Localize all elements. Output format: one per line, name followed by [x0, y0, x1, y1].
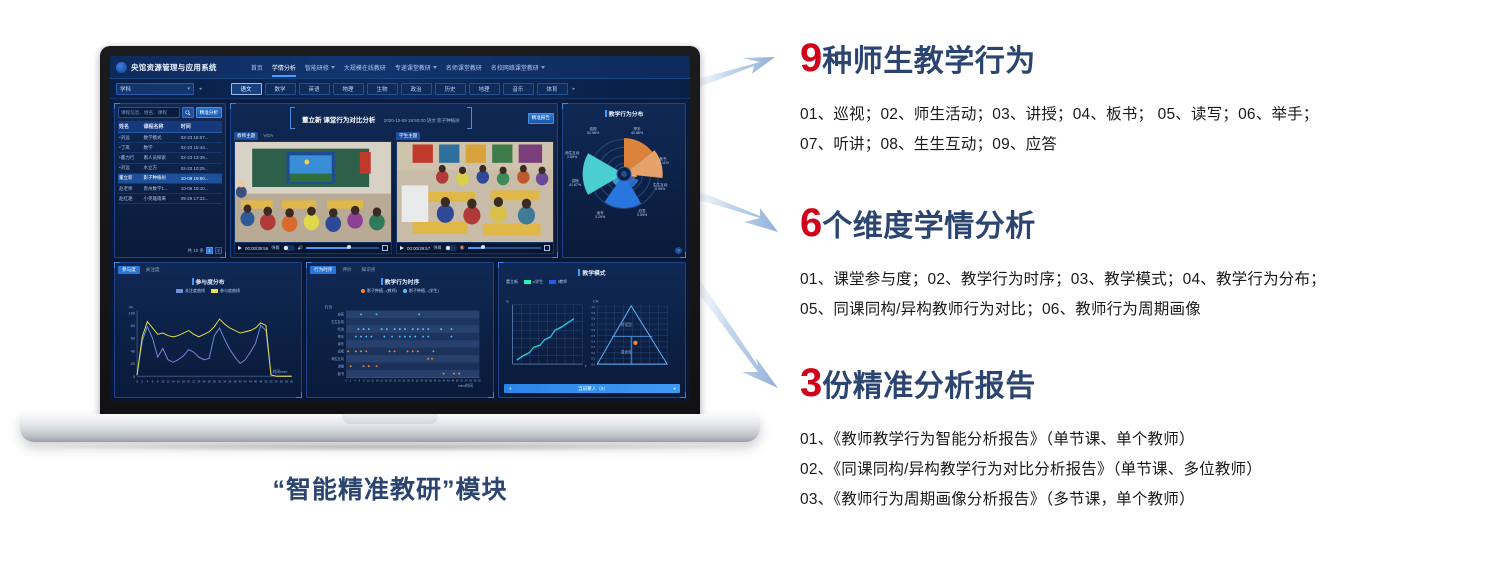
- volume-slider-left[interactable]: [306, 247, 379, 249]
- course-list-panel: 课程信息、姓名、课程 精准分析 姓名 课程名称: [114, 103, 226, 258]
- participation-ylabel: /%: [129, 305, 134, 309]
- svg-text:生生互动: 生生互动: [331, 319, 344, 324]
- teaching-mode-legend: 董立新 s学生 t教师: [502, 279, 682, 285]
- svg-text:8: 8: [157, 380, 159, 384]
- cell-name: 董立新: [118, 173, 142, 183]
- svg-text:20: 20: [131, 362, 135, 366]
- plus-icon[interactable]: ＋: [508, 386, 513, 392]
- svg-text:30: 30: [411, 381, 414, 383]
- mode-right-ylabel: CH: [593, 300, 599, 304]
- pie-label-shengsheng: 生生互动0.99%: [653, 183, 667, 192]
- feature-block-2: 6 个维度学情分析 01、课堂参与度；02、教学行为时序；03、教学模式；04、…: [800, 203, 1326, 325]
- app-navbar: 央馆资源管理与应用系统 首页 学情分析 智能研修 大规模在线教研 专递课堂教研 …: [110, 56, 690, 79]
- svg-text:60: 60: [131, 337, 135, 341]
- video-frame-student[interactable]: [396, 141, 554, 243]
- video-players: 教师主题 VGA: [234, 132, 554, 254]
- svg-text:4: 4: [354, 381, 356, 383]
- danmaku-label-right: 弹幕: [433, 245, 441, 251]
- cell-time: 02-23 15:43...: [180, 143, 222, 153]
- svg-text:12: 12: [166, 380, 170, 384]
- nav-item-famous-school-online[interactable]: 名校网络课堂教研: [491, 63, 545, 72]
- svg-text:36: 36: [228, 380, 232, 384]
- svg-text:举手: 举手: [338, 334, 344, 339]
- nav-item-master-class[interactable]: 名师课堂教研: [446, 63, 482, 72]
- block-2-line-2: 05、同课同构/异构教师行为对比；06、教师行为周期画像: [800, 295, 1326, 325]
- subject-tab-english[interactable]: 英语: [299, 83, 330, 95]
- subject-tab-chinese[interactable]: 语文: [231, 83, 262, 95]
- cell-name: •刘远: [118, 133, 142, 143]
- participation-legend: 关注度曲线 参与度曲线: [118, 288, 298, 294]
- svg-text:46: 46: [447, 381, 450, 383]
- svg-text:40: 40: [131, 349, 135, 353]
- svg-text:42: 42: [438, 381, 441, 383]
- video-tabs-left: 教师主题 VGA: [234, 132, 392, 140]
- timeline-legend: 影子种植...(教师) 影子种植...(学生): [310, 288, 490, 294]
- svg-text:10: 10: [367, 381, 370, 383]
- svg-text:2: 2: [141, 380, 143, 384]
- volume-mute-icon[interactable]: 🔇: [460, 245, 465, 251]
- behavior-distribution-panel: 教学行为分布: [562, 103, 686, 258]
- table-row[interactable]: •董力行南人员探索02-23 13:39...: [118, 153, 222, 163]
- cell-time: 02-23 13:39...: [180, 153, 222, 163]
- nav-items: 首页 学情分析 智能研修 大规模在线教研 专递课堂教研 名师课堂教研 名校网络课…: [251, 63, 545, 72]
- subject-tab-politics[interactable]: 政治: [401, 83, 432, 95]
- danmaku-label-left: 弹幕: [271, 245, 279, 251]
- legend-student-s: s学生: [524, 279, 543, 285]
- svg-text:6: 6: [359, 381, 361, 383]
- pie-slices: [571, 121, 677, 227]
- content-row-top: 课程信息、姓名、课程 精准分析 姓名 课程名称: [114, 103, 686, 258]
- block-3-line-1: 01、《教师教学行为智能分析报告》（单节课、单个教师）: [800, 425, 1262, 455]
- video-tabs-right: 学生主题: [396, 132, 554, 140]
- scroll-left-icon[interactable]: ◂: [199, 86, 202, 92]
- cell-time: 10-09 19:10...: [180, 183, 222, 193]
- page-2-button[interactable]: 2: [215, 247, 222, 254]
- precise-analysis-button[interactable]: 精准分析: [196, 107, 222, 118]
- subject-tab-math[interactable]: 数学: [265, 83, 296, 95]
- pie-label-shishengHD: 师生互动2.89%: [565, 151, 579, 160]
- cell-name: 赵老师: [118, 183, 142, 193]
- pie-label-jiangshou: 讲授41.67%: [569, 179, 581, 188]
- timeline-tabs: 行为时序 评价 知识点: [310, 266, 490, 274]
- participation-xlabel: 时间/min: [273, 369, 288, 374]
- video-controls-right: 00:00/39:57 弹幕 🔇: [396, 243, 554, 254]
- svg-text:58: 58: [285, 380, 289, 384]
- svg-text:24: 24: [398, 381, 401, 383]
- participation-panel: 参与度 关注度 参与度分布 关注度曲线 参与度曲线 /%: [114, 262, 302, 398]
- feature-block-1: 9 种师生教学行为 01、巡视；02、师生活动；03、讲授；04、板书； 05、…: [800, 38, 1319, 160]
- cell-course: 小英雄雨来: [142, 194, 179, 204]
- teaching-mode-title: 教学模式: [578, 268, 605, 277]
- svg-text:10: 10: [161, 380, 165, 384]
- chevron-down-icon: [433, 66, 437, 69]
- current-point-label: 当前聚人（0）: [516, 386, 671, 392]
- subject-tab-music[interactable]: 音乐: [503, 83, 534, 95]
- legend-teacher-t: t教师: [549, 279, 567, 285]
- block-1-number: 9: [800, 38, 822, 78]
- course-table: 姓名 课程名称 时间 •刘远数学模式02-23 16:07... •丁岚数学02…: [118, 121, 222, 204]
- svg-text:40: 40: [434, 381, 437, 383]
- cell-course: 数学模式: [142, 133, 179, 143]
- cell-time: 02-23 10:25...: [180, 163, 222, 173]
- chevron-down-icon: ▾: [187, 86, 190, 92]
- location-icon[interactable]: ⌖: [673, 386, 676, 391]
- cell-name: •董力行: [118, 153, 142, 163]
- svg-text:44: 44: [443, 381, 446, 383]
- svg-text:28: 28: [407, 381, 410, 383]
- subject-tab-geography[interactable]: 地理: [469, 83, 500, 95]
- subject-tab-history[interactable]: 历史: [435, 83, 466, 95]
- subject-select[interactable]: 学科 ▾: [116, 83, 194, 95]
- svg-text:48: 48: [451, 381, 454, 383]
- svg-text:0.8: 0.8: [591, 317, 595, 321]
- svg-text:14: 14: [376, 381, 379, 383]
- video-panel-subtitle: 2020-10-09 19:50:00 语文 影子种植树: [384, 118, 460, 123]
- mode-zone-dialog: 对话型: [621, 322, 633, 327]
- col-time: 时间: [180, 121, 222, 133]
- svg-text:52: 52: [460, 381, 463, 383]
- svg-text:0.3: 0.3: [591, 345, 595, 349]
- col-course: 课程名称: [142, 121, 179, 133]
- video-controls-left: 00:00/39:56 弹幕 🔊: [234, 243, 392, 254]
- block-1-body: 01、巡视；02、师生活动；03、讲授；04、板书； 05、读写；06、举手； …: [800, 100, 1319, 160]
- behavior-timeline-panel: 行为时序 评价 知识点 教学行为时序 影子种植...(教师) 影子种植...(学…: [306, 262, 494, 398]
- pie-label-duxie: 读写3.29%: [595, 211, 605, 220]
- tab-attention[interactable]: 关注度: [142, 266, 164, 274]
- fullscreen-icon[interactable]: [544, 245, 550, 251]
- cell-course: 贵州数学1...: [142, 183, 179, 193]
- tab-knowledge-point[interactable]: 知识点: [358, 266, 380, 274]
- application-window: 央馆资源管理与应用系统 首页 学情分析 智能研修 大规模在线教研 专递课堂教研 …: [110, 56, 690, 402]
- mode-left-xlabel: T: [585, 364, 588, 368]
- subject-tab-pe[interactable]: 体育: [537, 83, 568, 95]
- video-player-teacher: 教师主题 VGA: [234, 132, 392, 254]
- laptop-screen: 央馆资源管理与应用系统 首页 学情分析 智能研修 大规模在线教研 专递课堂教研 …: [110, 56, 690, 402]
- block-2-title: 个维度学情分析: [822, 212, 1036, 242]
- svg-text:42: 42: [244, 380, 248, 384]
- block-3-title: 份精准分析报告: [822, 372, 1036, 402]
- svg-text:听讲: 听讲: [338, 326, 345, 331]
- tab-vga-view[interactable]: VGA: [260, 132, 276, 140]
- volume-slider-right[interactable]: [468, 247, 541, 249]
- block-1-line-1: 01、巡视；02、师生活动；03、讲授；04、板书； 05、读写；06、举手；: [800, 100, 1319, 130]
- precise-report-button[interactable]: 精准报告: [528, 113, 554, 124]
- svg-text:50: 50: [456, 381, 459, 383]
- pie-label-yingda: 应答0.59%: [637, 209, 647, 218]
- svg-text:30: 30: [213, 380, 217, 384]
- svg-text:12: 12: [371, 381, 374, 383]
- svg-text:54: 54: [275, 380, 279, 384]
- cell-time: 09-29 17:22...: [180, 194, 222, 204]
- svg-text:56: 56: [280, 380, 284, 384]
- table-row[interactable]: 赵老师贵州数学1...10-09 19:10...: [118, 183, 222, 193]
- video-panel-title-box: 董立新 课堂行为对比分析 2020-10-09 19:50:00 语文 影子种植…: [290, 107, 472, 129]
- svg-text:6: 6: [152, 380, 154, 384]
- svg-text:2: 2: [350, 381, 352, 383]
- video-compare-panel: 董立新 课堂行为对比分析 2020-10-09 19:50:00 语文 影子种植…: [230, 103, 558, 258]
- tab-behavior-sequence[interactable]: 行为时序: [310, 266, 336, 274]
- svg-text:板书: 板书: [338, 371, 344, 376]
- bracket-right-icon: [467, 107, 472, 129]
- svg-text:44: 44: [249, 380, 253, 384]
- bracket-left-icon: [290, 107, 295, 129]
- svg-text:60: 60: [290, 380, 294, 384]
- svg-text:46: 46: [254, 380, 258, 384]
- svg-text:0.9: 0.9: [591, 311, 595, 315]
- svg-text:0.1: 0.1: [591, 357, 595, 361]
- cell-course: 数学: [142, 143, 179, 153]
- cell-name: •刘远: [118, 163, 142, 173]
- svg-text:52: 52: [270, 380, 274, 384]
- svg-text:60: 60: [478, 381, 481, 383]
- svg-text:58: 58: [474, 381, 477, 383]
- svg-text:0.6: 0.6: [591, 328, 595, 332]
- timeline-scatter-chart: 行为 应答生生互动听讲举手读写巡视师生互动讲授板书 02468101214161…: [310, 296, 490, 394]
- svg-text:8: 8: [363, 381, 365, 383]
- timeline-chart-title: 教学行为时序: [381, 277, 420, 286]
- subject-tab-biology[interactable]: 生物: [367, 83, 398, 95]
- tab-student-view[interactable]: 学生主题: [396, 132, 420, 140]
- cell-name: 赵红艳: [118, 194, 142, 204]
- svg-text:28: 28: [208, 380, 212, 384]
- svg-text:4: 4: [147, 380, 149, 384]
- svg-text:22: 22: [192, 380, 196, 384]
- cell-course: 南人员探索: [142, 153, 179, 163]
- svg-text:34: 34: [223, 380, 227, 384]
- app-title: 央馆资源管理与应用系统: [131, 62, 217, 73]
- table-row-selected[interactable]: 董立新影子种植树10-09 19:50...: [118, 173, 222, 183]
- svg-text:0: 0: [345, 381, 347, 383]
- svg-text:16: 16: [177, 380, 181, 384]
- search-row: 课程信息、姓名、课程 精准分析: [118, 107, 222, 118]
- nav-item-delivery-class[interactable]: 专递课堂教研: [395, 63, 437, 72]
- table-row[interactable]: •丁岚数学02-23 15:43...: [118, 143, 222, 153]
- block-1-heading: 9 种师生教学行为: [800, 38, 1319, 78]
- svg-text:应答: 应答: [338, 312, 345, 317]
- nav-item-home[interactable]: 首页: [251, 63, 263, 72]
- feature-block-3: 3 份精准分析报告 01、《教师教学行为智能分析报告》（单节课、单个教师） 02…: [800, 363, 1262, 515]
- svg-text:32: 32: [416, 381, 419, 383]
- current-point-bar[interactable]: ＋ 当前聚人（0） ⌖: [504, 384, 680, 393]
- participation-tabs: 参与度 关注度: [118, 266, 298, 274]
- svg-text:14: 14: [172, 380, 176, 384]
- pie-label-banshu: 板书47.11%: [657, 157, 669, 166]
- timeline-xlabel: min/时间: [458, 383, 473, 388]
- subject-tab-physics[interactable]: 物理: [333, 83, 364, 95]
- page-1-button[interactable]: 1: [206, 247, 213, 254]
- chevron-down-icon: [541, 66, 545, 69]
- laptop-lid: 央馆资源管理与应用系统 首页 学情分析 智能研修 大规模在线教研 专递课堂教研 …: [100, 46, 700, 418]
- search-icon[interactable]: [182, 107, 194, 118]
- block-3-number: 3: [800, 363, 822, 403]
- svg-text:20: 20: [389, 381, 392, 383]
- block-1-title: 种师生教学行为: [822, 47, 1036, 77]
- participation-chart-title: 参与度分布: [192, 277, 225, 286]
- chevron-down-icon: [331, 66, 335, 69]
- svg-text:100: 100: [129, 311, 135, 315]
- block-3-line-2: 02、《同课同构/异构教学行为对比分析报告》（单节课、多位教师）: [800, 455, 1262, 485]
- block-1-line-2: 07、听讲；08、生生互动；09、应答: [800, 130, 1319, 160]
- svg-text:巡视: 巡视: [338, 349, 345, 354]
- block-3-line-3: 03、《教师行为周期画像分析报告》（多节课，单个教师）: [800, 485, 1262, 515]
- cell-course: 影子种植树: [142, 173, 179, 183]
- block-3-body: 01、《教师教学行为智能分析报告》（单节课、单个教师） 02、《同课同构/异构教…: [800, 425, 1262, 515]
- screenshot-root: 央馆资源管理与应用系统 首页 学情分析 智能研修 大规模在线教研 专递课堂教研 …: [0, 0, 1510, 567]
- svg-text:0.0: 0.0: [591, 362, 595, 366]
- svg-text:16: 16: [380, 381, 383, 383]
- play-icon[interactable]: [400, 246, 404, 250]
- pie-chart: 举手42.86% 板书47.11% 生生互动0.99% 应答0.59% 读写3.…: [571, 121, 677, 227]
- legend-participation: 参与度曲线: [211, 288, 240, 294]
- app-content: 课程信息、姓名、课程 精准分析 姓名 课程名称: [110, 99, 690, 402]
- table-header-row: 姓名 课程名称 时间: [118, 121, 222, 133]
- cell-time: 10-09 19:50...: [180, 173, 222, 183]
- video-panel-title: 董立新 课堂行为对比分析: [302, 117, 375, 124]
- legend-attention: 关注度曲线: [176, 288, 205, 294]
- laptop-notch: [342, 414, 438, 424]
- subject-filter-bar: 学科 ▾ ◂ 语文 数学 英语 物理 生物 政治 历史 地理: [110, 79, 690, 99]
- svg-text:54: 54: [465, 381, 468, 383]
- danmaku-toggle-right[interactable]: [445, 245, 457, 251]
- teaching-mode-charts: S T CH 1.00.9: [502, 287, 682, 384]
- svg-text:48: 48: [259, 380, 263, 384]
- video-time-left: 00:00/39:56: [245, 246, 268, 251]
- svg-text:38: 38: [429, 381, 432, 383]
- cell-name: •丁岚: [118, 143, 142, 153]
- laptop-caption: “智能精准教研”模块: [20, 470, 760, 506]
- video-panel-header: 董立新 课堂行为对比分析 2020-10-09 19:50:00 语文 影子种植…: [234, 107, 554, 129]
- video-player-student: 学生主题: [396, 132, 554, 254]
- participation-line-chart: /% 020406080100 024681012141618202224262…: [118, 296, 298, 394]
- legend-teacher: 影子种植...(教师): [361, 288, 397, 294]
- logo-dot-icon: [116, 62, 127, 73]
- svg-text:22: 22: [394, 381, 397, 383]
- pagination-total: 共 10 条: [187, 248, 204, 254]
- svg-text:24: 24: [197, 380, 201, 384]
- svg-text:0.2: 0.2: [591, 351, 595, 355]
- svg-text:0.7: 0.7: [591, 322, 595, 326]
- tab-evaluation[interactable]: 评价: [338, 266, 355, 274]
- svg-text:36: 36: [425, 381, 428, 383]
- timeline-ylabel: 行为: [325, 304, 333, 309]
- block-2-line-1: 01、课堂参与度；02、教学行为时序；03、教学模式；04、教学行为分布；: [800, 265, 1326, 295]
- cell-course: 水立方: [142, 163, 179, 173]
- scroll-right-icon[interactable]: ▸: [573, 86, 576, 92]
- svg-text:读写: 读写: [338, 341, 344, 346]
- svg-text:56: 56: [469, 381, 472, 383]
- help-icon[interactable]: ?: [675, 247, 682, 254]
- legend-teacher-name: 董立新: [506, 279, 518, 285]
- legend-student: 影子种植...(学生): [403, 288, 439, 294]
- svg-text:50: 50: [264, 380, 268, 384]
- block-2-number: 6: [800, 203, 822, 243]
- volume-icon[interactable]: 🔊: [298, 245, 303, 251]
- table-row[interactable]: •刘远水立方02-23 10:25...: [118, 163, 222, 173]
- svg-text:18: 18: [385, 381, 388, 383]
- block-2-heading: 6 个维度学情分析: [800, 203, 1326, 243]
- svg-text:32: 32: [218, 380, 222, 384]
- block-2-body: 01、课堂参与度；02、教学行为时序；03、教学模式；04、教学行为分布； 05…: [800, 265, 1326, 325]
- svg-text:34: 34: [420, 381, 423, 383]
- svg-text:0.5: 0.5: [591, 334, 595, 338]
- svg-text:18: 18: [182, 380, 186, 384]
- mode-left-ylabel: S: [506, 300, 509, 304]
- nav-item-learning-analysis[interactable]: 学情分析: [272, 63, 296, 72]
- svg-text:1.0: 1.0: [591, 305, 595, 309]
- svg-text:0: 0: [133, 375, 135, 379]
- svg-text:40: 40: [239, 380, 243, 384]
- pagination: 共 10 条 1 2: [118, 245, 222, 254]
- play-icon[interactable]: [238, 246, 242, 250]
- content-row-bottom: 参与度 关注度 参与度分布 关注度曲线 参与度曲线 /%: [114, 262, 686, 398]
- video-frame-teacher[interactable]: [234, 141, 392, 243]
- svg-text:讲授: 讲授: [338, 363, 345, 368]
- laptop-shadow: [30, 442, 750, 452]
- table-row[interactable]: 赵红艳小英雄雨来09-29 17:22...: [118, 194, 222, 204]
- danmaku-toggle-left[interactable]: [283, 245, 295, 251]
- svg-text:26: 26: [403, 381, 406, 383]
- tab-teacher-view[interactable]: 教师主题: [234, 132, 258, 140]
- video-time-right: 00:00/39:57: [407, 246, 430, 251]
- feature-blocks: 9 种师生教学行为 01、巡视；02、师生活动；03、讲授；04、板书； 05、…: [786, 0, 1510, 567]
- search-input[interactable]: 课程信息、姓名、课程: [118, 107, 180, 118]
- nav-item-large-scale-online[interactable]: 大规模在线教研: [344, 63, 386, 72]
- svg-text:26: 26: [203, 380, 207, 384]
- tab-participation[interactable]: 参与度: [118, 266, 140, 274]
- table-row[interactable]: •刘远数学模式02-23 16:07...: [118, 133, 222, 143]
- nav-item-smart-training[interactable]: 智能研修: [305, 63, 335, 72]
- fullscreen-icon[interactable]: [382, 245, 388, 251]
- svg-text:38: 38: [233, 380, 237, 384]
- cell-time: 02-23 16:07...: [180, 133, 222, 143]
- svg-text:80: 80: [131, 324, 135, 328]
- subject-tab-list: 语文 数学 英语 物理 生物 政治 历史 地理 音乐 体育: [231, 83, 568, 95]
- svg-text:0: 0: [136, 380, 138, 384]
- col-name: 姓名: [118, 121, 142, 133]
- svg-text:20: 20: [187, 380, 191, 384]
- svg-text:师生互动: 师生互动: [331, 356, 344, 361]
- teaching-mode-panel: 教学模式 董立新 s学生 t教师 S: [498, 262, 686, 398]
- svg-text:0.4: 0.4: [591, 339, 595, 343]
- pie-label-xunshi: 巡视52.96%: [587, 127, 599, 136]
- laptop-mockup: 央馆资源管理与应用系统 首页 学情分析 智能研修 大规模在线教研 专递课堂教研 …: [20, 46, 760, 466]
- pie-chart-title: 教学行为分布: [605, 109, 644, 118]
- mode-zone-mixed: 混合型: [621, 350, 633, 355]
- pie-label-juxiu: 举手42.86%: [631, 127, 643, 136]
- block-3-heading: 3 份精准分析报告: [800, 363, 1262, 403]
